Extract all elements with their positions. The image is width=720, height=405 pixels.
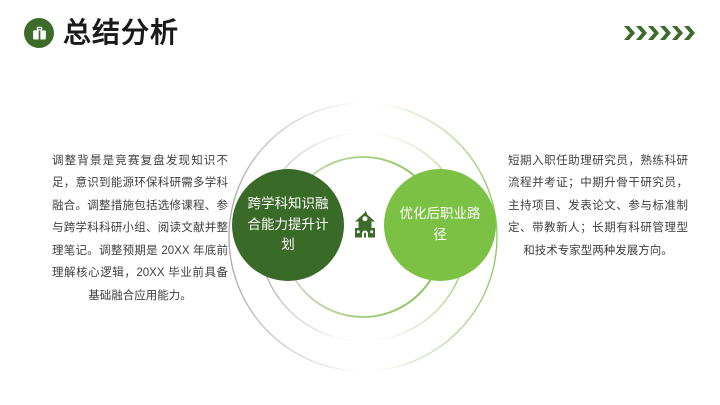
bubble-career-path-label: 优化后职业路径 xyxy=(398,204,482,246)
school-building-icon xyxy=(345,205,385,245)
page-title: 总结分析 xyxy=(63,19,179,47)
bubble-plan-label: 跨学科知识融合能力提升计划 xyxy=(246,194,330,257)
left-description-text: 调整背景是竞赛复盘发现知识不足，意识到能源环保科研需多学科融合。调整措施包括选修… xyxy=(52,150,228,307)
chevrons-right-icon xyxy=(624,25,696,41)
right-description-text: 短期入职任助理研究员，熟练科研流程并考证；中期升骨干研究员，主持项目、发表论文、… xyxy=(508,150,688,262)
bubble-plan[interactable]: 跨学科知识融合能力提升计划 xyxy=(232,169,344,281)
briefcase-icon xyxy=(24,18,54,48)
bubble-career-path[interactable]: 优化后职业路径 xyxy=(384,169,496,281)
title-group: 总结分析 xyxy=(24,18,179,48)
slide-header: 总结分析 xyxy=(0,0,720,70)
